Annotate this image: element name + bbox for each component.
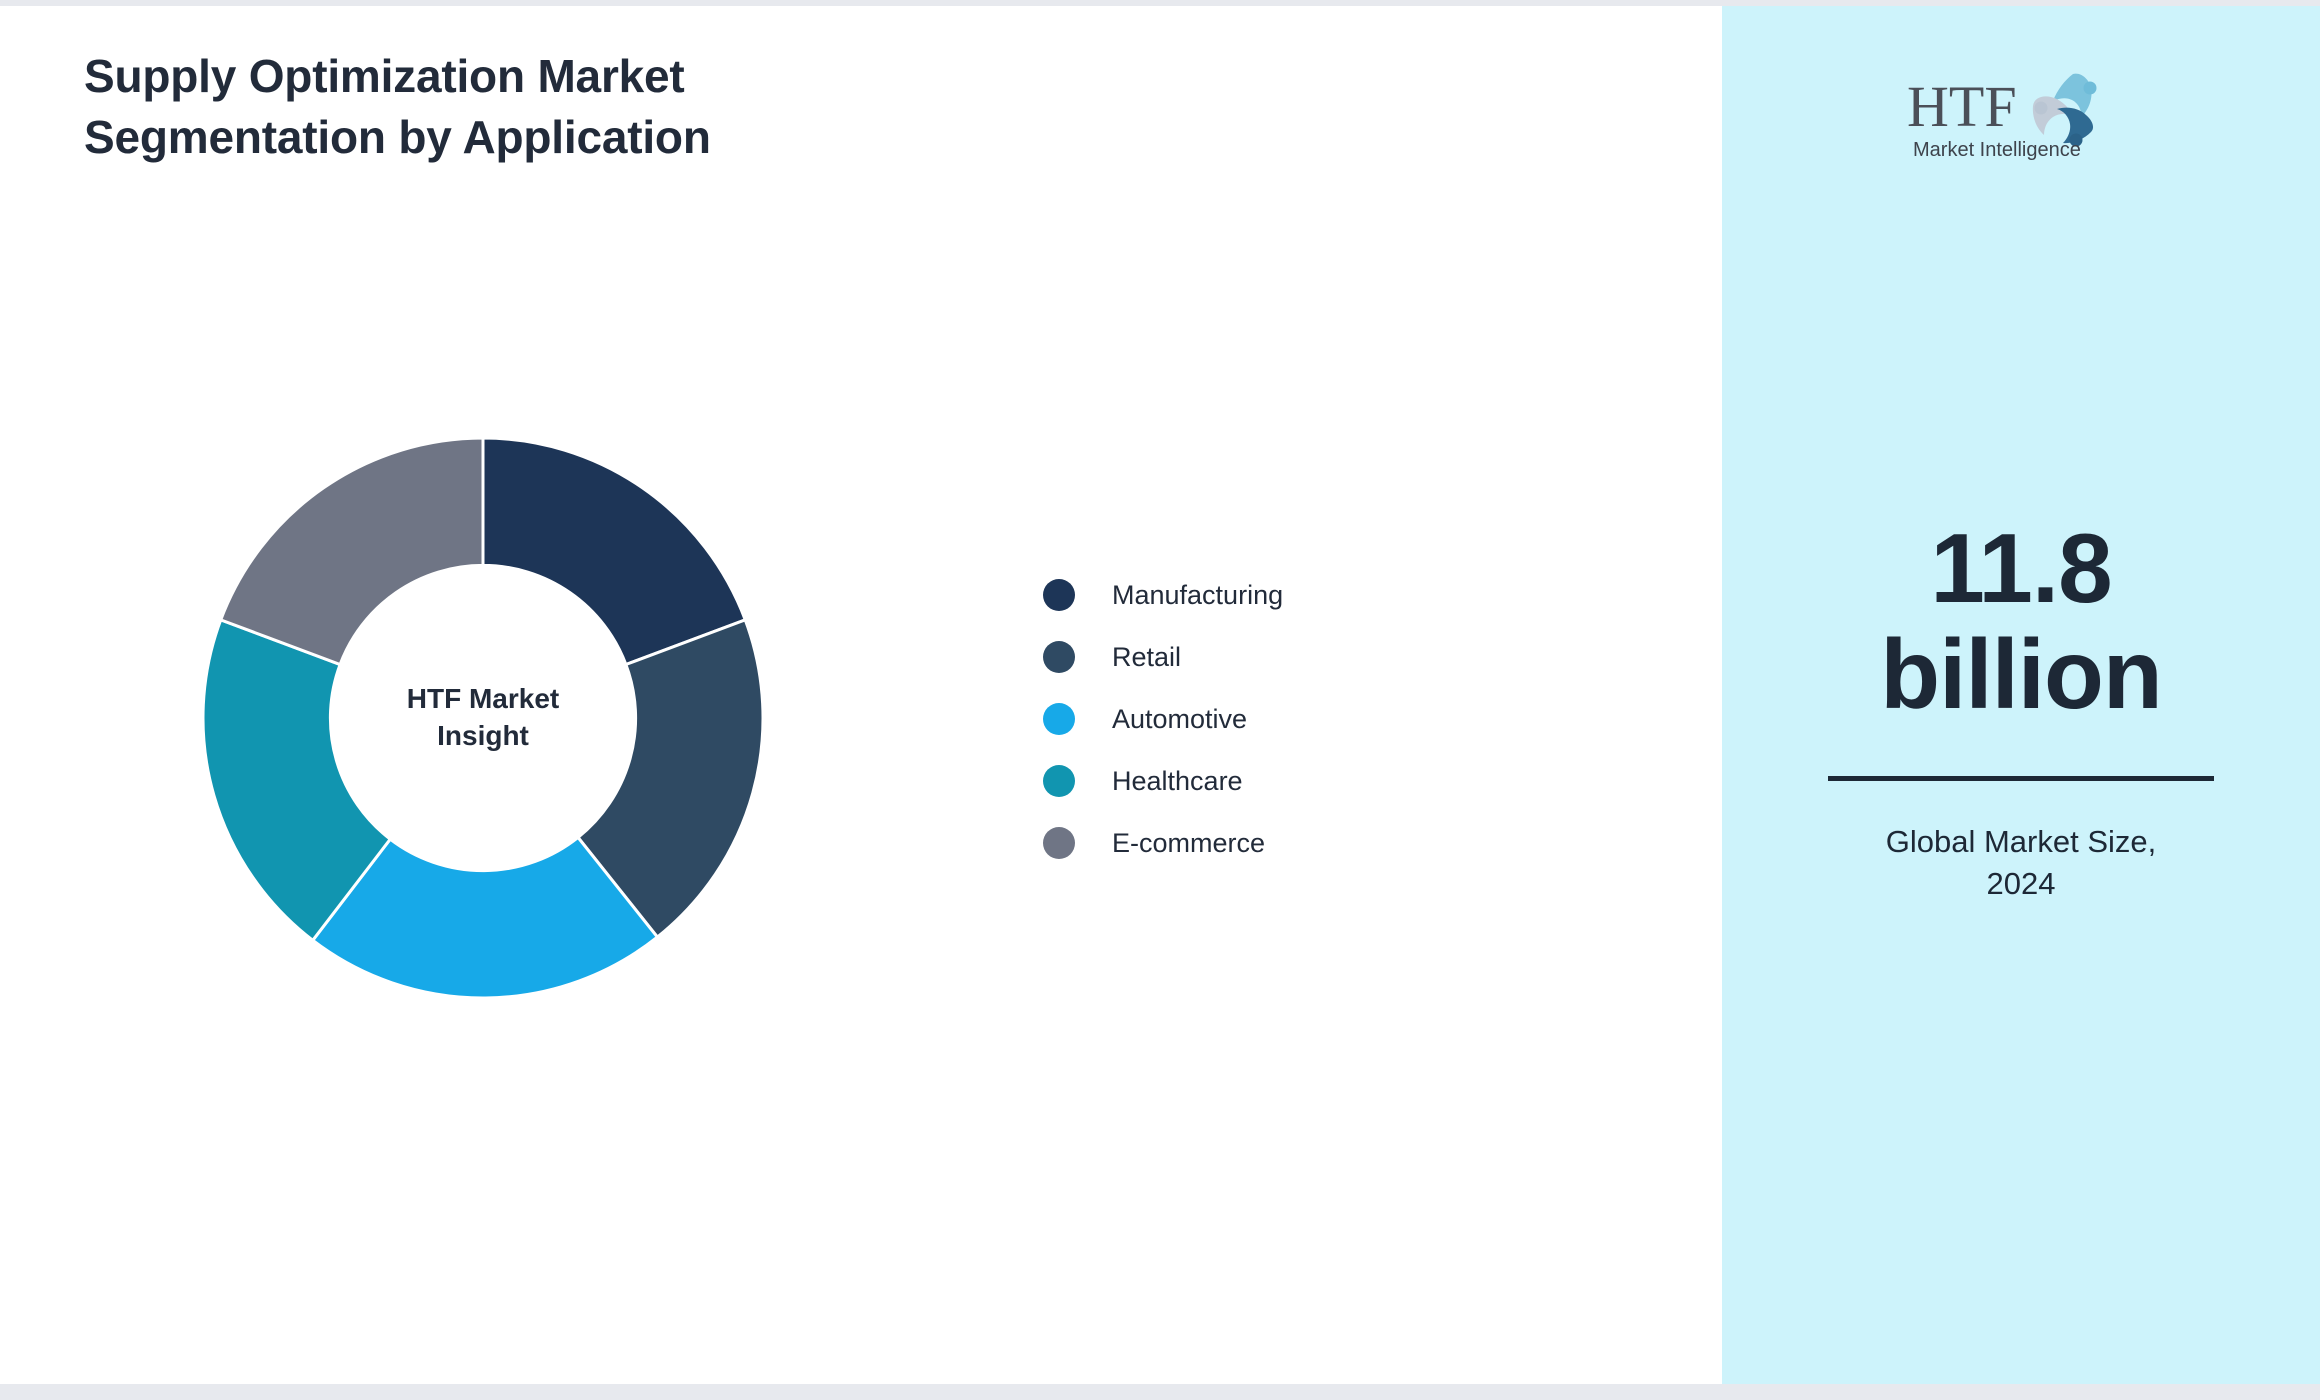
stat-side-panel: HTF Market Intelligence 11.8 billion: [1722, 6, 2320, 1392]
donut-chart-svg: [203, 438, 763, 998]
main-content-panel: Supply Optimization Market Segmentation …: [0, 6, 1722, 1392]
legend-swatch-icon: [1043, 765, 1075, 797]
market-size-value-line-1: 11.8: [1722, 516, 2320, 622]
legend-item[interactable]: E-commerce: [1043, 812, 1283, 874]
market-size-caption-line-2: 2024: [1801, 863, 2241, 906]
htf-logo-tagline-text: Market Intelligence: [1913, 139, 2081, 161]
legend-item[interactable]: Retail: [1043, 626, 1283, 688]
donut-slice-group: [203, 438, 763, 998]
market-size-value: 11.8 billion: [1722, 516, 2320, 728]
donut-slice[interactable]: [221, 438, 483, 665]
market-size-value-line-2: billion: [1722, 622, 2320, 728]
legend-item-label: Healthcare: [1112, 766, 1243, 797]
page-bottom-edge: [0, 1384, 2320, 1392]
donut-slice[interactable]: [483, 438, 745, 665]
legend-item-label: E-commerce: [1112, 828, 1265, 859]
htf-logo-svg: HTF Market Intelligence: [1901, 64, 2141, 162]
legend-item-label: Manufacturing: [1112, 580, 1283, 611]
market-size-caption-line-1: Global Market Size,: [1801, 821, 2241, 864]
legend-item[interactable]: Manufacturing: [1043, 564, 1283, 626]
market-size-caption: Global Market Size, 2024: [1801, 821, 2241, 907]
legend-swatch-icon: [1043, 827, 1075, 859]
three-figures-circle-icon: [2033, 74, 2097, 147]
legend-item[interactable]: Automotive: [1043, 688, 1283, 750]
legend-swatch-icon: [1043, 579, 1075, 611]
legend-swatch-icon: [1043, 641, 1075, 673]
legend-swatch-icon: [1043, 703, 1075, 735]
page-title-line-1: Supply Optimization Market: [84, 50, 685, 102]
legend-item[interactable]: Healthcare: [1043, 750, 1283, 812]
htf-wordmark-text: HTF: [1907, 74, 2017, 139]
page-title-line-2: Segmentation by Application: [84, 111, 711, 163]
infographic-page: Supply Optimization Market Segmentation …: [0, 6, 2320, 1392]
htf-logo: HTF Market Intelligence: [1901, 64, 2141, 162]
page-title: Supply Optimization Market Segmentation …: [84, 46, 964, 168]
donut-chart: HTF Market Insight: [203, 438, 763, 998]
legend-item-label: Retail: [1112, 642, 1181, 673]
stat-divider: [1828, 776, 2214, 781]
market-size-stat: 11.8 billion Global Market Size, 2024: [1722, 516, 2320, 906]
chart-legend: ManufacturingRetailAutomotiveHealthcareE…: [1043, 564, 1283, 874]
legend-item-label: Automotive: [1112, 704, 1247, 735]
